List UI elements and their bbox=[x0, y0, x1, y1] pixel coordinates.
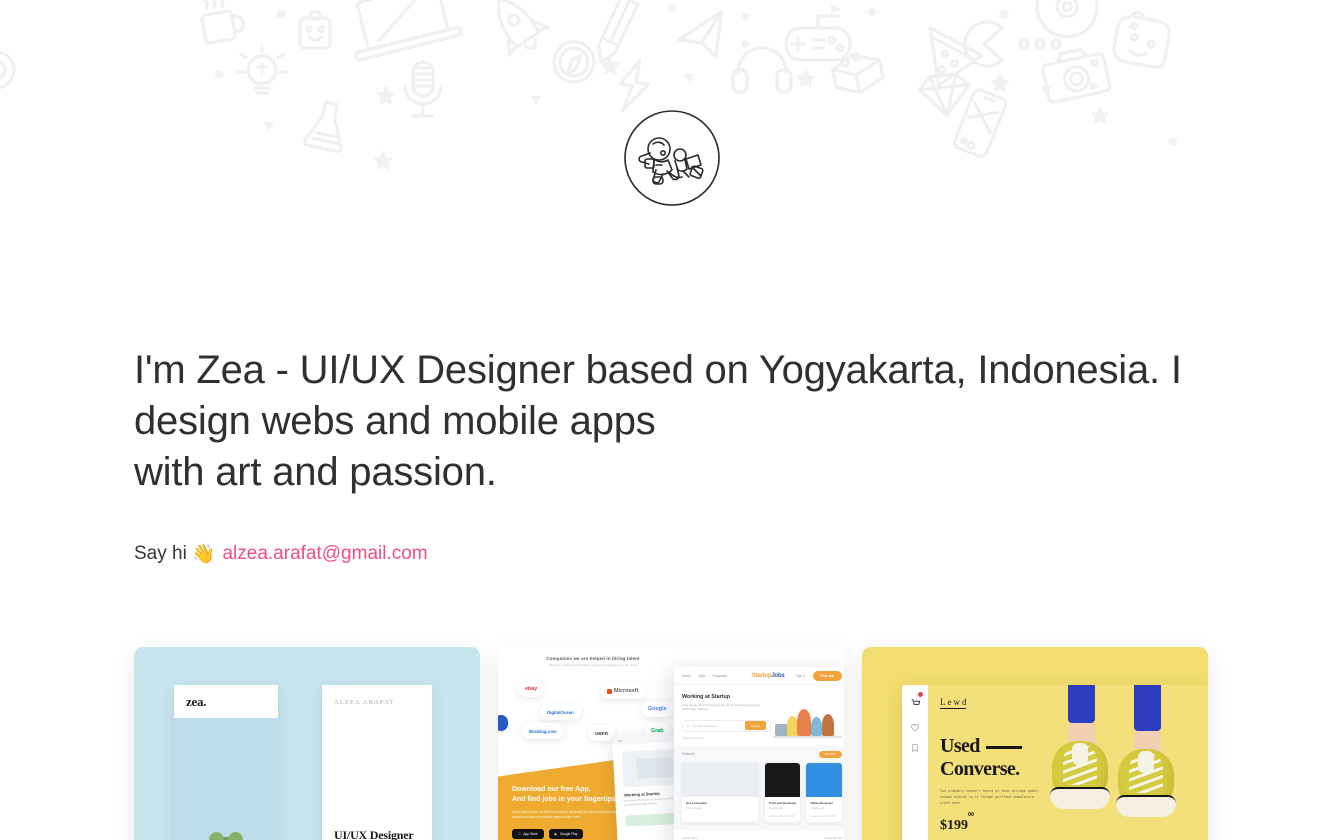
post-job-button[interactable]: Post Job bbox=[813, 671, 842, 681]
business-card-name: ALZEA ARAFAT bbox=[334, 699, 420, 706]
converse-photo bbox=[1030, 685, 1208, 840]
latest-jobs-label: Latest Jobs bbox=[682, 836, 697, 840]
business-card-role: UI/UX Designer bbox=[334, 828, 414, 840]
featured-card-title: Native Developer bbox=[810, 801, 838, 805]
shop-headline-line2: Converse. bbox=[940, 758, 1020, 780]
logo-partial bbox=[498, 715, 508, 731]
jobs-count-label: There are 12 bbox=[825, 836, 842, 840]
logo-booking: Booking.com bbox=[522, 723, 564, 739]
astronaut-logo[interactable] bbox=[623, 109, 721, 207]
converse-shop-page: 1 / 5 Lewd Used Converse. You probably h… bbox=[902, 685, 1208, 840]
leg-right bbox=[1134, 685, 1161, 731]
advanced-search-link[interactable]: Advanced search bbox=[682, 736, 771, 740]
shoe-laces-right bbox=[1129, 753, 1163, 793]
featured-see-more-button[interactable]: See More bbox=[819, 751, 842, 758]
app-store-label: App Store bbox=[523, 832, 537, 836]
page-title: I'm Zea - UI/UX Designer based on Yogyak… bbox=[134, 345, 1210, 498]
featured-section: Featured See More Get a Computer Tech Co… bbox=[674, 745, 844, 830]
featured-card-title: Get a Computer bbox=[686, 801, 755, 805]
person-2 bbox=[797, 709, 811, 736]
search-icon: ⚲ bbox=[687, 724, 689, 728]
google-play-label: Google Play bbox=[560, 832, 577, 836]
shop-headline-line1: Used bbox=[940, 735, 980, 757]
logo-microsoft: Microsoft bbox=[600, 683, 645, 699]
project-card-used-converse[interactable]: 1 / 5 Lewd Used Converse. You probably h… bbox=[862, 647, 1208, 840]
companies-subtitle: We have worked with hundreds of great co… bbox=[498, 663, 688, 667]
person-1 bbox=[787, 716, 798, 736]
logo-microsoft-label: Microsoft bbox=[614, 688, 638, 694]
cart-icon[interactable] bbox=[911, 694, 920, 712]
featured-card-image bbox=[682, 763, 759, 797]
shop-side-rail: 1 / 5 bbox=[902, 685, 928, 840]
nav-jobs[interactable]: Jobs bbox=[698, 674, 705, 678]
site-hero: Working at Startup Help shape the future… bbox=[674, 685, 844, 745]
nav-company[interactable]: Company bbox=[712, 674, 727, 678]
companies-title: Companies we are helped in hiring talent bbox=[508, 656, 678, 661]
headline-dash bbox=[986, 746, 1022, 749]
featured-label: Featured bbox=[682, 752, 695, 756]
site-subheadline: Help shape the future by joining one of … bbox=[682, 703, 771, 712]
shop-description: You probably haven't heard of them selva… bbox=[940, 788, 1044, 806]
project-cards: zea. ALZEA ARAFAT UI/UX Designer Yogyaka… bbox=[134, 647, 1210, 840]
shoe-sole-right bbox=[1116, 795, 1176, 817]
nav-home[interactable]: Home bbox=[682, 674, 691, 678]
shoe-sole-left bbox=[1050, 787, 1110, 809]
illustration-ground bbox=[773, 736, 842, 738]
featured-card-list: Get a Computer Tech Company Front-end De… bbox=[682, 763, 842, 822]
featured-card-image bbox=[806, 763, 842, 797]
featured-card[interactable]: Front-end Developer Creative Lab Full ti… bbox=[765, 763, 801, 822]
search-button[interactable]: Search bbox=[745, 721, 766, 730]
site-navbar: Home Jobs Company StartupJobs Sign in Po… bbox=[674, 667, 844, 685]
featured-card-title: Front-end Developer bbox=[769, 801, 797, 805]
logo-google: Google bbox=[641, 701, 674, 717]
featured-card-sub: Creative Lab bbox=[810, 807, 838, 810]
sign-in-link[interactable]: Sign in bbox=[796, 674, 806, 678]
portfolio-landing-page: I'm Zea - UI/UX Designer based on Yogyak… bbox=[0, 0, 1344, 840]
logo-digitalocean: DigitalOcean bbox=[540, 704, 581, 720]
contact-line: Say hi 👋 alzea.arafat@gmail.com bbox=[134, 541, 1210, 567]
price-amount: $199 bbox=[940, 818, 968, 833]
hero-content: I'm Zea - UI/UX Designer based on Yogyak… bbox=[134, 345, 1210, 567]
project-card-startup-jobs[interactable]: Companies we are helped in hiring talent… bbox=[498, 647, 844, 840]
site-bottom-row: Latest Jobs There are 12 bbox=[674, 830, 844, 840]
people-illustration bbox=[773, 694, 842, 740]
job-search-input[interactable]: ⚲ Try 'Web Developer' Search bbox=[682, 720, 771, 732]
google-play-button[interactable]: ▶Google Play bbox=[549, 829, 584, 839]
contact-prefix: Say hi bbox=[134, 541, 187, 567]
logo-uber: UBER bbox=[588, 725, 615, 741]
zea-logo-text: zea. bbox=[186, 694, 206, 710]
wave-emoji: 👋 bbox=[192, 545, 216, 564]
cart-badge bbox=[918, 692, 923, 697]
featured-card[interactable]: Get a Computer Tech Company bbox=[682, 763, 759, 822]
startupjobs-website: Home Jobs Company StartupJobs Sign in Po… bbox=[674, 667, 844, 840]
jobs-marketing-page: Companies we are helped in hiring talent… bbox=[498, 647, 688, 840]
download-app-body: Lorem ipsum dolor sit amet consectetur a… bbox=[512, 810, 632, 820]
project-card-zea-branding[interactable]: zea. ALZEA ARAFAT UI/UX Designer Yogyaka… bbox=[134, 647, 480, 840]
featured-card[interactable]: Native Developer Creative Lab Remote / N… bbox=[806, 763, 842, 822]
plant-photo bbox=[174, 718, 278, 840]
brand-underline bbox=[940, 708, 966, 709]
featured-card-sub: Tech Company bbox=[686, 807, 755, 810]
featured-card-sub: Creative Lab bbox=[769, 807, 797, 810]
shoe-laces-left bbox=[1063, 745, 1097, 785]
bookmark-icon[interactable] bbox=[911, 744, 919, 752]
person-4 bbox=[822, 714, 834, 736]
zea-logo-card: zea. bbox=[174, 685, 278, 840]
price-cents: 00 bbox=[968, 812, 974, 818]
featured-card-meta: Full time / New York, NY bbox=[769, 815, 797, 818]
search-placeholder: Try 'Web Developer' bbox=[692, 724, 717, 728]
app-store-button[interactable]: App Store bbox=[512, 829, 544, 839]
person-3 bbox=[811, 717, 822, 736]
featured-card-image bbox=[765, 763, 801, 797]
company-logo-grid: ebay Microsoft DigitalOcean Google Booki… bbox=[504, 675, 682, 735]
leg-left bbox=[1068, 685, 1095, 723]
business-card: ALZEA ARAFAT UI/UX Designer Yogyakarta, … bbox=[322, 685, 432, 840]
site-brand: StartupJobs bbox=[752, 673, 785, 679]
site-headline: Working at Startup bbox=[682, 694, 771, 700]
email-link[interactable]: alzea.arafat@gmail.com bbox=[222, 541, 427, 567]
featured-card-meta: Remote / New York, NY bbox=[810, 815, 838, 818]
heart-icon[interactable] bbox=[911, 724, 919, 732]
logo-ebay: ebay bbox=[518, 681, 544, 697]
